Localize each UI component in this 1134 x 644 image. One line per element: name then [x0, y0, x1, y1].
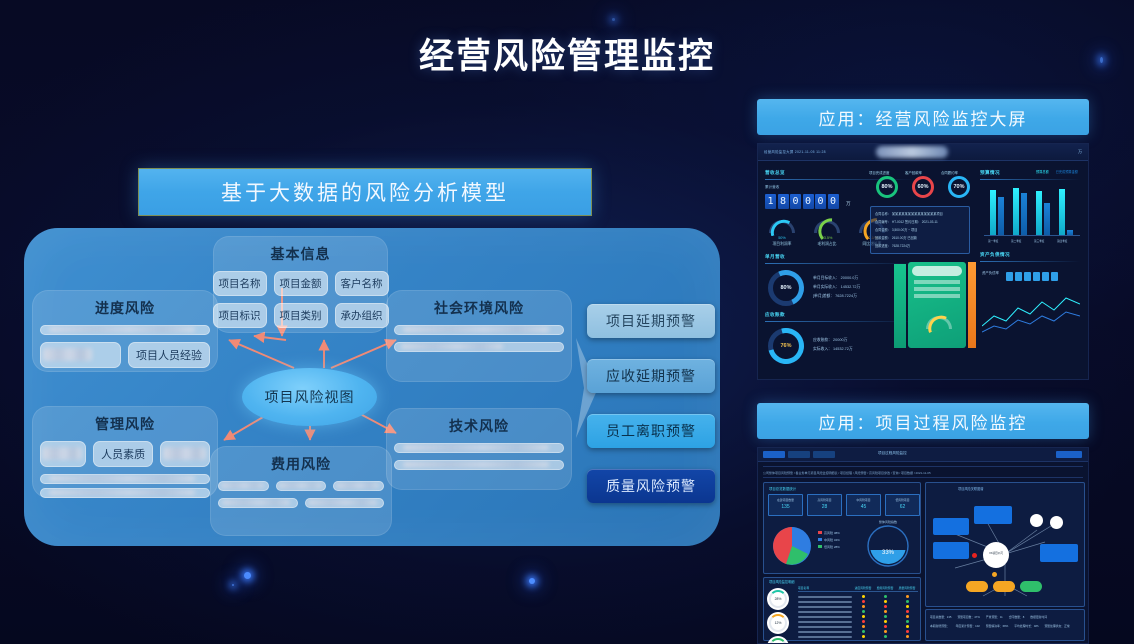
bar — [998, 197, 1004, 236]
legend-item: 预算总额 — [1036, 170, 1049, 174]
donut-gauge-column: 28%12%16% — [767, 588, 789, 644]
graph-alert-dot-orange — [992, 572, 997, 577]
status-dot — [906, 635, 909, 638]
application-card-project-process: 应用：项目过程风险监控 项目过程风险监控 公司整体项目风险预警 / 各业务单元项… — [757, 403, 1089, 644]
asset-chip — [1006, 272, 1013, 281]
donut-gauge: 28% — [767, 588, 789, 610]
tag-row — [210, 491, 392, 508]
pie-chart-risk-distribution — [772, 526, 812, 566]
status-dot — [884, 630, 887, 633]
table-cell-name — [798, 611, 852, 613]
tag-row — [386, 436, 572, 453]
feature-tag-redacted — [40, 488, 210, 498]
graph-pill[interactable] — [993, 581, 1015, 592]
status-dot — [862, 600, 865, 603]
feature-tag: 项目金额 — [274, 271, 328, 296]
detail-line: 回款进度： 7628.7224万 — [875, 242, 969, 250]
section-rule — [765, 321, 915, 322]
dashboard-topbar-text: 经营风险监控大屏 2021-11-05 11:28 — [764, 149, 826, 154]
feature-tag-redacted — [218, 498, 298, 508]
feature-tag-redacted — [394, 460, 564, 470]
table-cell-status — [852, 610, 874, 613]
section-label-budget: 预算情况 — [980, 170, 1000, 176]
kpi-cards: 在建项目数量135高风险项目28中风险项目45低风险项目62 — [768, 494, 920, 516]
donut-gauge: 16% — [767, 636, 789, 644]
ring-gauge-contract: 70% — [948, 176, 970, 198]
legend-item: 已完成预算金额 — [1056, 170, 1078, 174]
risk-box-cost: 费用风险 — [210, 446, 392, 536]
section-label-monthly-revenue: 单月营收 — [765, 254, 785, 260]
asset-chip — [1015, 272, 1022, 281]
ring-gauge-progress: 80% — [876, 176, 898, 198]
table-cell-status — [874, 625, 896, 628]
graph-node-box[interactable] — [1040, 544, 1078, 562]
feature-tag-redacted — [218, 481, 269, 491]
table-header: 项目名称进度风险预警费用风险预警质量风险预警 — [798, 586, 918, 592]
kpi-label: 中风险项目 — [847, 498, 880, 502]
dashboard-topbar-right: 万 — [1078, 149, 1082, 155]
chart-axis — [984, 235, 1080, 236]
green-side-bar — [894, 264, 906, 348]
risk-box-progress: 进度风险 项目人员经验 — [32, 290, 218, 372]
particle-glow — [232, 584, 234, 586]
bar-chart-budget: 第一季度第二季度第三季度第四季度 — [984, 186, 1080, 244]
status-dot — [906, 620, 909, 623]
status-dot — [862, 625, 865, 628]
bar — [1059, 189, 1065, 236]
stat-line: 应收账款： 20000万 — [813, 336, 853, 345]
feature-tag: 项目人员经验 — [128, 342, 210, 368]
table-cell-status — [896, 610, 918, 613]
table-cell-name — [798, 621, 852, 623]
bar-category-label: 第二季度 — [1011, 239, 1021, 243]
feature-tag: 人员素质 — [93, 441, 153, 467]
bar-category-label: 第三季度 — [1034, 239, 1044, 243]
footer-field: 预警处理状态：正常 — [1044, 622, 1069, 631]
donut-chart-collection: 76% — [768, 328, 804, 364]
feature-tag: 客户名称 — [335, 271, 389, 296]
footer-row: 项目总数量：135预警项目数：47%严重预警：11合同数量：8数据更新时间 — [930, 613, 1082, 622]
table-cell-status — [874, 615, 896, 618]
status-dot — [884, 635, 887, 638]
kpi-label: 高风险项目 — [808, 498, 841, 502]
bar-group: 第三季度 — [1036, 188, 1054, 236]
graph-pill[interactable] — [966, 581, 988, 592]
feature-tag: 项目类别 — [274, 303, 328, 328]
big-number-digit: 8 — [778, 194, 789, 209]
pie-legend-item: 中风险 34% — [818, 537, 840, 544]
asset-chip — [1024, 272, 1031, 281]
detail-line: 合同金额： 3,500.00万 ~ 项目 — [875, 226, 969, 234]
bar-group: 第四季度 — [1059, 188, 1077, 236]
graph-node-circle[interactable] — [1030, 514, 1043, 527]
model-banner: 基于大数据的风险分析模型 — [138, 168, 592, 216]
table-cell-status — [852, 615, 874, 618]
table-cell-status — [852, 635, 874, 638]
kpi-card: 高风险项目28 — [807, 494, 842, 516]
feature-tag-redacted — [40, 342, 121, 368]
table-cell-name — [798, 636, 852, 638]
table-cell-status — [852, 600, 874, 603]
alert-button-project-delay[interactable]: 项目延期预警 — [587, 304, 715, 338]
table-cell-status — [874, 630, 896, 633]
asset-chip — [1042, 272, 1049, 281]
table-cell-status — [896, 620, 918, 623]
green-panel-gauge — [926, 316, 952, 329]
table-column-header: 项目名称 — [798, 586, 852, 590]
tag-row: 项目标识 项目类别 承办组织 — [213, 296, 388, 328]
big-number: 180000 — [765, 191, 840, 209]
asset-ratio-chips — [1006, 268, 1060, 286]
graph-center-node — [983, 542, 1009, 568]
particle-glow — [529, 578, 535, 584]
alert-button-quality-risk[interactable]: 质量风险预警 — [587, 469, 715, 503]
feature-tag-redacted — [394, 342, 564, 352]
tag-row — [32, 484, 218, 498]
gauge-arc — [814, 220, 840, 233]
gauge-label: 项目利润率 — [765, 242, 799, 247]
particle-glow — [244, 572, 251, 579]
gauge-label: 毛利润占比 — [810, 242, 844, 247]
risk-box-title: 基本信息 — [213, 236, 388, 264]
alert-button-receivable-delay[interactable]: 应收延期预警 — [587, 359, 715, 393]
kpi-card: 中风险项目45 — [846, 494, 881, 516]
donut-value: 76% — [773, 333, 799, 359]
status-dot — [906, 600, 909, 603]
graph-pill[interactable] — [1020, 581, 1042, 592]
footer-field: 本期新增预警： — [930, 622, 950, 631]
big-number-caption: 累计营收 — [765, 185, 779, 190]
dashboard2-title: 项目过程风险监控 — [878, 451, 907, 456]
tab-chip[interactable] — [788, 451, 810, 458]
section-rule — [980, 261, 1080, 262]
donut-value: 12% — [767, 612, 789, 634]
status-dot — [906, 615, 909, 618]
table-cell-status — [852, 605, 874, 608]
big-number-digit: 0 — [828, 194, 839, 209]
footer-field: 平均处理时长：48h — [1014, 622, 1038, 631]
section-label-project-overview: 项目总览数据统计 — [769, 486, 796, 491]
bar — [1044, 203, 1050, 236]
ring-label: 合同履约率 — [941, 170, 958, 175]
footer-field: 合同数量：8 — [1009, 613, 1025, 622]
green-panel-header — [912, 266, 962, 276]
table-cell-status — [896, 635, 918, 638]
table-cell-name — [798, 596, 852, 598]
contract-detail-lines: 合同名称： 某某某某某某某某某某某某某某项目 合同编号： HT-0012 签约日… — [875, 210, 969, 250]
center-node-project-risk-view: 项目风险视图 — [242, 368, 377, 426]
section-label-revenue-overview: 营收总览 — [765, 170, 785, 176]
bar — [1021, 193, 1027, 236]
kpi-value: 45 — [847, 504, 880, 510]
footer-row: 本期新增预警：年度累计预警：102预警解决率：68%平均处理时长：48h预警处理… — [930, 622, 1082, 631]
section-label-assets: 资产负债情况 — [980, 252, 1010, 258]
pie-legend-item: 高风险 38% — [818, 530, 840, 537]
tab-chip[interactable] — [763, 451, 785, 458]
dashboard-topbar: 经营风险监控大屏 2021-11-05 11:28 万 — [758, 144, 1088, 161]
kpi-label: 低风险项目 — [886, 498, 919, 502]
tag-row — [32, 318, 218, 335]
gauge-value: 50% — [765, 236, 799, 240]
status-dot — [906, 595, 909, 598]
detail-line: 合同名称： 某某某某某某某某某某某某某某项目 — [875, 210, 969, 218]
status-dot — [862, 605, 865, 608]
table-column-header: 质量风险预警 — [896, 586, 918, 590]
section-label-receivables: 应收账款 — [765, 312, 785, 318]
table-cell-name — [798, 631, 852, 633]
status-dot — [862, 595, 865, 598]
ring-label: 项目完成进度 — [869, 170, 889, 175]
status-dot — [884, 620, 887, 623]
table-cell-name — [798, 626, 852, 628]
status-dot — [884, 615, 887, 618]
feature-tag-redacted — [160, 441, 210, 467]
donut-chart-completion: 80% — [768, 270, 804, 306]
status-dot — [862, 630, 865, 633]
feature-tag: 项目标识 — [213, 303, 267, 328]
table-cell-status — [852, 595, 874, 598]
risk-box-social-environment: 社会环境风险 — [386, 290, 572, 382]
risk-box-title: 社会环境风险 — [386, 290, 572, 318]
asset-chip — [1033, 272, 1040, 281]
green-panel-rows — [914, 280, 960, 306]
status-dot — [884, 595, 887, 598]
table-cell-status — [852, 625, 874, 628]
table-cell-status — [896, 615, 918, 618]
ring-value: 80% — [879, 179, 895, 195]
table-cell-status — [852, 630, 874, 633]
tag-row: 人员素质 — [32, 434, 218, 467]
stat-line: [单月]差额： 7628.7224万 — [813, 292, 860, 301]
feature-tag-redacted — [305, 498, 385, 508]
tag-row — [386, 318, 572, 335]
application-header: 应用：项目过程风险监控 — [757, 403, 1089, 439]
pie-legend-item: 低风险 28% — [818, 544, 840, 551]
tag-row — [32, 467, 218, 484]
bar — [1013, 188, 1019, 236]
tag-row: 项目名称 项目金额 客户名称 — [213, 264, 388, 296]
big-number-unit: 万 — [846, 201, 851, 207]
table-cell-status — [896, 625, 918, 628]
table-cell-status — [874, 610, 896, 613]
big-number-digit: 1 — [765, 194, 776, 209]
risk-box-title: 进度风险 — [32, 290, 218, 318]
table-row[interactable] — [798, 634, 918, 639]
table-cell-status — [874, 600, 896, 603]
stat-lines: 单月目标收入： 20000.0万 单月实际收入： 14532.72万 [单月]差… — [813, 274, 860, 301]
footer-field: 数据更新时间 — [1030, 613, 1047, 622]
dashboard-screenshot-project-process[interactable]: 项目过程风险监控 公司整体项目风险预警 / 各业务单元项目风险监控明细表 / 项… — [757, 447, 1089, 644]
table-cell-status — [874, 595, 896, 598]
graph-alert-dot-red — [972, 553, 977, 558]
bar — [990, 190, 996, 236]
feature-tag: 项目名称 — [213, 271, 267, 296]
asset-ratio-label: 资产负债率 — [982, 270, 999, 275]
status-dot — [906, 625, 909, 628]
tab-chip[interactable] — [813, 451, 835, 458]
kpi-value: 135 — [769, 504, 802, 510]
bar — [1036, 191, 1042, 236]
status-dot — [862, 635, 865, 638]
footer-field: 年度累计预警：102 — [956, 622, 980, 631]
feature-tag-redacted — [333, 481, 384, 491]
chart-legend: 预算总额 已完成预算金额 — [1036, 169, 1078, 174]
status-dot — [862, 615, 865, 618]
footer-field: 严重预警：11 — [986, 613, 1003, 622]
section-rule — [980, 179, 1080, 180]
kpi-value: 62 — [886, 504, 919, 510]
svg-text:33%: 33% — [882, 550, 895, 556]
detail-line: 合同编号： HT-0012 签约日期： 2021-03-11 — [875, 218, 969, 226]
ring-label: 客户回款率 — [905, 170, 922, 175]
feature-tag-redacted — [394, 325, 564, 335]
tag-row — [386, 453, 572, 470]
feature-tag-redacted — [394, 443, 564, 453]
status-dot — [884, 610, 887, 613]
table-cell-status — [874, 620, 896, 623]
dashboard-title-redacted — [876, 146, 948, 158]
kpi-value: 28 — [808, 504, 841, 510]
tab-chip[interactable] — [1056, 451, 1082, 458]
table-column-header: 费用风险预警 — [874, 586, 896, 590]
big-number-digit: 0 — [790, 194, 801, 209]
kpi-card: 低风险项目62 — [885, 494, 920, 516]
risk-box-title: 技术风险 — [386, 408, 572, 436]
breadcrumb: 公司整体项目风险预警 / 各业务单元项目风险监控明细表 / 项目经理 / 风险预… — [763, 466, 1083, 478]
status-dot — [906, 605, 909, 608]
table-cell-status — [896, 605, 918, 608]
graph-node-box[interactable] — [933, 542, 969, 559]
big-number-digit: 0 — [803, 194, 814, 209]
graph-node-circle[interactable] — [1050, 516, 1063, 529]
feature-tag: 承办组织 — [335, 303, 389, 328]
footer-field: 预警项目数：47% — [957, 613, 979, 622]
pie-legend: 高风险 38%中风险 34%低风险 28% — [818, 530, 840, 551]
table-cell-name — [798, 606, 852, 608]
status-dot — [906, 610, 909, 613]
stat-line: 单月目标收入： 20000.0万 — [813, 274, 860, 283]
status-dot — [906, 630, 909, 633]
table-cell-status — [896, 600, 918, 603]
status-dot — [862, 620, 865, 623]
section-label-risk-detail: 项目风险监控明细 — [769, 579, 795, 584]
detail-line: 回款金额： 2610.00万 已回款 — [875, 234, 969, 242]
donut-value: 28% — [767, 588, 789, 610]
feature-tag-redacted — [40, 325, 210, 335]
table-cell-name — [798, 616, 852, 618]
stat-lines: 应收账款： 20000万 实际收入： 14532.72万 — [813, 336, 853, 354]
line-chart-assets — [982, 286, 1080, 338]
application-header: 应用：经营风险监控大屏 — [757, 99, 1089, 135]
tag-row — [210, 474, 392, 491]
tag-row: 项目人员经验 — [32, 335, 218, 368]
liquid-gauge-risk-index: 33% — [866, 524, 910, 568]
donut-value: 16% — [767, 636, 789, 644]
table-cell-name — [798, 601, 852, 603]
status-dot — [884, 625, 887, 628]
bar-group: 第二季度 — [1013, 188, 1031, 236]
stat-line: 实际收入： 14532.72万 — [813, 345, 853, 354]
gauge-value: 23.5% — [810, 236, 844, 240]
risk-box-basic-info: 基本信息 项目名称 项目金额 客户名称 项目标识 项目类别 承办组织 — [213, 236, 388, 333]
application-card-risk-screen: 应用：经营风险监控大屏 经营风险监控大屏 2021-11-05 11:28 万 … — [757, 99, 1089, 380]
feature-tag-redacted — [40, 441, 86, 467]
status-dot — [862, 610, 865, 613]
footer-field: 项目总数量：135 — [930, 613, 951, 622]
graph-node-box[interactable] — [974, 506, 1012, 524]
big-number-digit: 0 — [815, 194, 826, 209]
risk-table: 项目名称进度风险预警费用风险预警质量风险预警 — [798, 586, 918, 639]
liquid-gauge-label: 整体风险指数 — [866, 520, 910, 524]
donut-gauge: 12% — [767, 612, 789, 634]
bar-category-label: 第四季度 — [1057, 239, 1067, 243]
risk-box-title: 费用风险 — [210, 446, 392, 474]
bar-group: 第一季度 — [990, 188, 1008, 236]
table-cell-status — [874, 635, 896, 638]
status-dot — [884, 600, 887, 603]
kpi-label: 在建项目数量 — [769, 498, 802, 502]
graph-center-label: XX项目公司 — [983, 551, 1009, 555]
risk-box-management: 管理风险 人员素质 — [32, 406, 218, 498]
risk-box-technical: 技术风险 — [386, 408, 572, 490]
footer-field-list: 项目总数量：135预警项目数：47%严重预警：11合同数量：8数据更新时间本期新… — [930, 613, 1082, 631]
alert-button-employee-turnover[interactable]: 员工离职预警 — [587, 414, 715, 448]
orange-side-bar — [968, 262, 976, 348]
ring-value: 60% — [915, 179, 931, 195]
asset-chip — [1051, 272, 1058, 281]
section-rule — [765, 263, 915, 264]
particle-glow — [612, 18, 615, 21]
kpi-card: 在建项目数量135 — [768, 494, 803, 516]
table-cell-status — [896, 595, 918, 598]
tag-row — [386, 335, 572, 352]
footer-field: 预警解决率：68% — [986, 622, 1008, 631]
donut-value: 80% — [773, 275, 799, 301]
graph-node-box[interactable] — [933, 518, 969, 535]
table-cell-status — [896, 630, 918, 633]
table-cell-status — [852, 620, 874, 623]
feature-tag-redacted — [276, 481, 327, 491]
bar-category-label: 第一季度 — [988, 239, 998, 243]
risk-box-title: 管理风险 — [32, 406, 218, 434]
gauge-arc — [769, 220, 795, 233]
table-cell-status — [874, 605, 896, 608]
stat-line: 单月实际收入： 14532.72万 — [813, 283, 860, 292]
table-column-header: 进度风险预警 — [852, 586, 874, 590]
ring-gauge-collection: 60% — [912, 176, 934, 198]
status-dot — [884, 605, 887, 608]
page-title: 经营风险管理监控 — [0, 28, 1134, 79]
dashboard-screenshot-risk-screen[interactable]: 经营风险监控大屏 2021-11-05 11:28 万 营收总览 累计营收 18… — [757, 143, 1089, 380]
ring-value: 70% — [951, 179, 967, 195]
feature-tag-redacted — [40, 474, 210, 484]
